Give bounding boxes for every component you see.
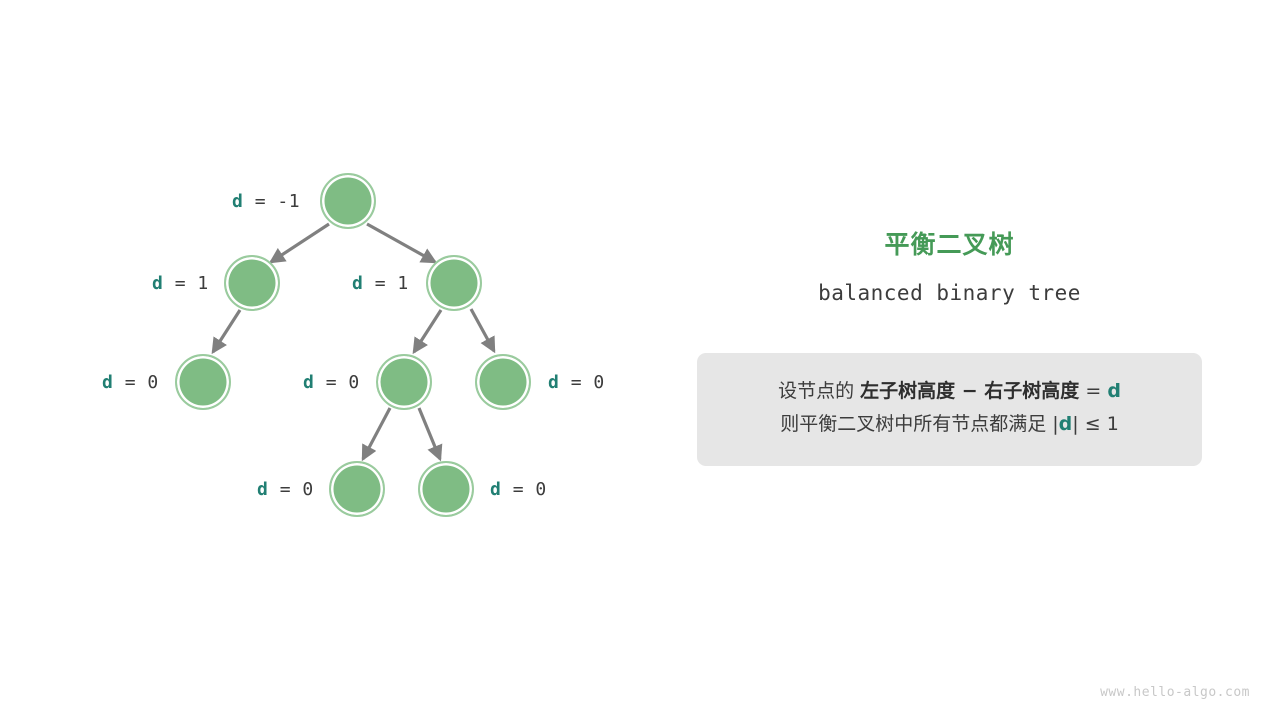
tree-node-right-right[interactable] [475,354,531,410]
node-label-left-left: d = 0 [102,372,159,393]
tree-edge-root-right [367,224,435,262]
node-label-variable: d [490,479,501,500]
node-label-variable: d [352,273,363,294]
info-panel: 平衡二叉树 balanced binary tree 设节点的 左子树高度 − … [697,225,1202,466]
node-label-value: = 0 [125,372,159,393]
definition-line-1-equals: = [1085,380,1101,402]
node-label-right-right: d = 0 [548,372,605,393]
watermark: www.hello-algo.com [1100,685,1250,700]
tree-edge-rl-rlr [419,408,440,459]
definition-line-2-variable: d [1059,413,1073,435]
tree-edge-r-rr [471,309,494,351]
tree-edge-r-rl [414,310,441,352]
node-label-right: d = 1 [352,273,409,294]
definition-line-1: 设节点的 左子树高度 − 右子树高度 = d [697,375,1202,408]
node-label-value: = 0 [571,372,605,393]
tree-node-left-left[interactable] [175,354,231,410]
node-label-variable: d [152,273,163,294]
definition-line-1-lead: 设节点的 [778,380,854,402]
definition-line-2-relation: ≤ 1 [1085,413,1119,435]
node-label-value: = -1 [255,191,300,212]
node-label-variable: d [232,191,243,212]
node-label-right-left: d = 0 [303,372,360,393]
node-label-variable: d [257,479,268,500]
node-label-value: = 0 [513,479,547,500]
binary-tree-diagram: d = -1 d = 1 d = 1 d = 0 d = 0 d = 0 d =… [0,0,660,720]
definition-line-1-variable: d [1107,380,1121,402]
figure-canvas: d = -1 d = 1 d = 1 d = 0 d = 0 d = 0 d =… [0,0,1280,720]
node-label-variable: d [102,372,113,393]
definition-line-2-bar-close: | [1072,413,1078,435]
node-label-variable: d [303,372,314,393]
tree-node-right-left[interactable] [376,354,432,410]
definition-box: 设节点的 左子树高度 − 右子树高度 = d 则平衡二叉树中所有节点都满足 |d… [697,353,1202,466]
tree-node-right-left-right[interactable] [418,461,474,517]
tree-edge-rl-rll [363,408,390,459]
definition-line-1-emphasis: 左子树高度 − 右子树高度 [860,380,1079,402]
definition-line-2-lead: 则平衡二叉树中所有节点都满足 [780,413,1046,435]
node-label-root: d = -1 [232,191,300,212]
node-label-right-left-left: d = 0 [257,479,314,500]
node-label-value: = 0 [280,479,314,500]
tree-node-left[interactable] [224,255,280,311]
node-label-variable: d [548,372,559,393]
node-label-value: = 1 [175,273,209,294]
node-label-value: = 0 [326,372,360,393]
tree-node-right[interactable] [426,255,482,311]
tree-edge-root-left [271,224,329,262]
definition-line-2: 则平衡二叉树中所有节点都满足 |d| ≤ 1 [697,408,1202,441]
tree-node-root[interactable] [320,173,376,229]
node-label-value: = 1 [375,273,409,294]
tree-edge-layer [0,0,660,720]
panel-title: 平衡二叉树 [697,225,1202,261]
node-label-left: d = 1 [152,273,209,294]
node-label-right-left-right: d = 0 [490,479,547,500]
panel-subtitle: balanced binary tree [697,281,1202,305]
tree-edge-l-ll [213,310,240,352]
tree-node-right-left-left[interactable] [329,461,385,517]
